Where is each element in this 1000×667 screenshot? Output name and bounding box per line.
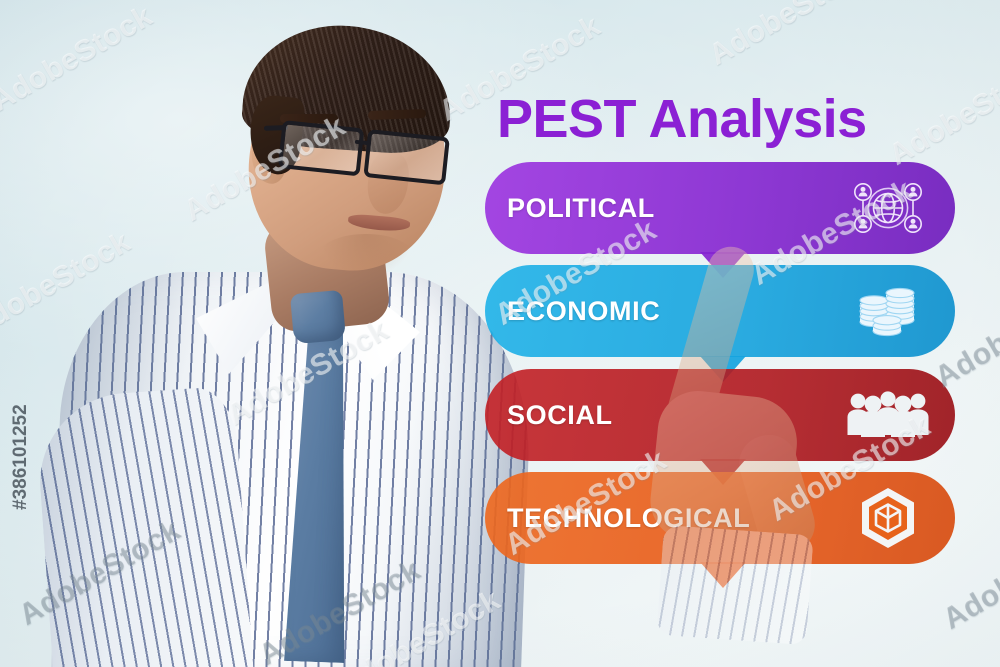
coin-stacks-icon	[845, 278, 931, 344]
pest-bar-political-label: POLITICAL	[507, 193, 845, 224]
pest-bar-social[interactable]: SOCIAL	[485, 369, 955, 461]
pest-bar-social-label: SOCIAL	[507, 400, 845, 431]
connector-arrow-technological	[700, 562, 746, 588]
pest-analysis-infographic: PEST Analysis POLITICAL	[0, 0, 1000, 667]
screenshot-canvas: PEST Analysis POLITICAL	[0, 0, 1000, 667]
page-title: PEST Analysis	[497, 92, 867, 146]
pest-bar-economic-label: ECONOMIC	[507, 296, 845, 327]
globe-network-icon	[845, 175, 931, 241]
pest-bar-economic[interactable]: ECONOMIC	[485, 265, 955, 357]
pest-bar-technological[interactable]: TECHNOLOGICAL	[485, 472, 955, 564]
group-of-people-icon	[845, 382, 931, 448]
pest-bar-political[interactable]: POLITICAL	[485, 162, 955, 254]
hexagon-cube-icon	[845, 485, 931, 551]
pest-bar-technological-label: TECHNOLOGICAL	[507, 503, 845, 534]
